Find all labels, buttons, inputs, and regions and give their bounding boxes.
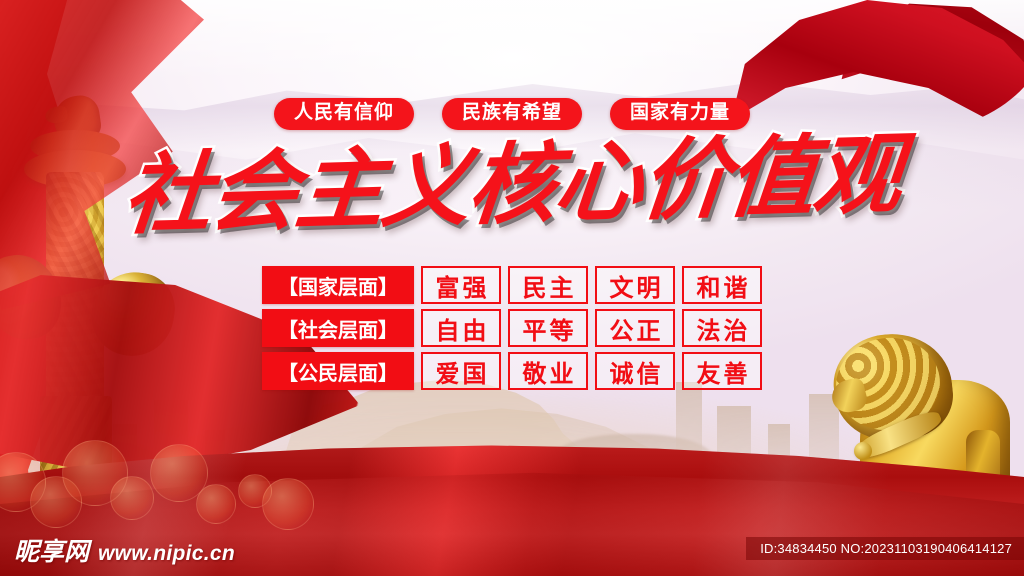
value-cell[interactable]: 自由 xyxy=(421,309,501,347)
table-row: 【社会层面】 自由 平等 公正 法治 xyxy=(262,309,762,347)
poster-canvas: 人民有信仰 民族有希望 国家有力量 社会主义核心价值观 【国家层面】 富强 民主… xyxy=(0,0,1024,576)
table-row: 【公民层面】 爱国 敬业 诚信 友善 xyxy=(262,352,762,390)
value-cell[interactable]: 友善 xyxy=(682,352,762,390)
value-cell[interactable]: 和谐 xyxy=(682,266,762,304)
core-values-table: 【国家层面】 富强 民主 文明 和谐 【社会层面】 自由 平等 公正 法治 【公… xyxy=(262,266,762,390)
slogan-badge-1[interactable]: 人民有信仰 xyxy=(274,98,414,130)
value-cell[interactable]: 文明 xyxy=(595,266,675,304)
value-cell[interactable]: 民主 xyxy=(508,266,588,304)
value-cell[interactable]: 公正 xyxy=(595,309,675,347)
value-cell[interactable]: 诚信 xyxy=(595,352,675,390)
lion-bell xyxy=(854,442,872,460)
value-cell[interactable]: 敬业 xyxy=(508,352,588,390)
watermark: 昵享网 www.nipic.cn xyxy=(14,532,235,568)
row-label-social: 【社会层面】 xyxy=(262,309,414,347)
watermark-logo: 昵享网 xyxy=(14,532,89,568)
main-title-text: 社会主义核心价值观 xyxy=(120,129,905,239)
value-cell[interactable]: 法治 xyxy=(682,309,762,347)
slogan-badge-2[interactable]: 民族有希望 xyxy=(442,98,582,130)
asset-id-label: ID:34834450 NO:20231103190406414127 xyxy=(746,537,1024,560)
value-cell[interactable]: 爱国 xyxy=(421,352,501,390)
value-cell[interactable]: 富强 xyxy=(421,266,501,304)
table-row: 【国家层面】 富强 民主 文明 和谐 xyxy=(262,266,762,304)
watermark-url: www.nipic.cn xyxy=(98,542,235,566)
row-label-citizen: 【公民层面】 xyxy=(262,352,414,390)
row-label-national: 【国家层面】 xyxy=(262,266,414,304)
page-title: 社会主义核心价值观 xyxy=(0,140,1024,228)
value-cell[interactable]: 平等 xyxy=(508,309,588,347)
